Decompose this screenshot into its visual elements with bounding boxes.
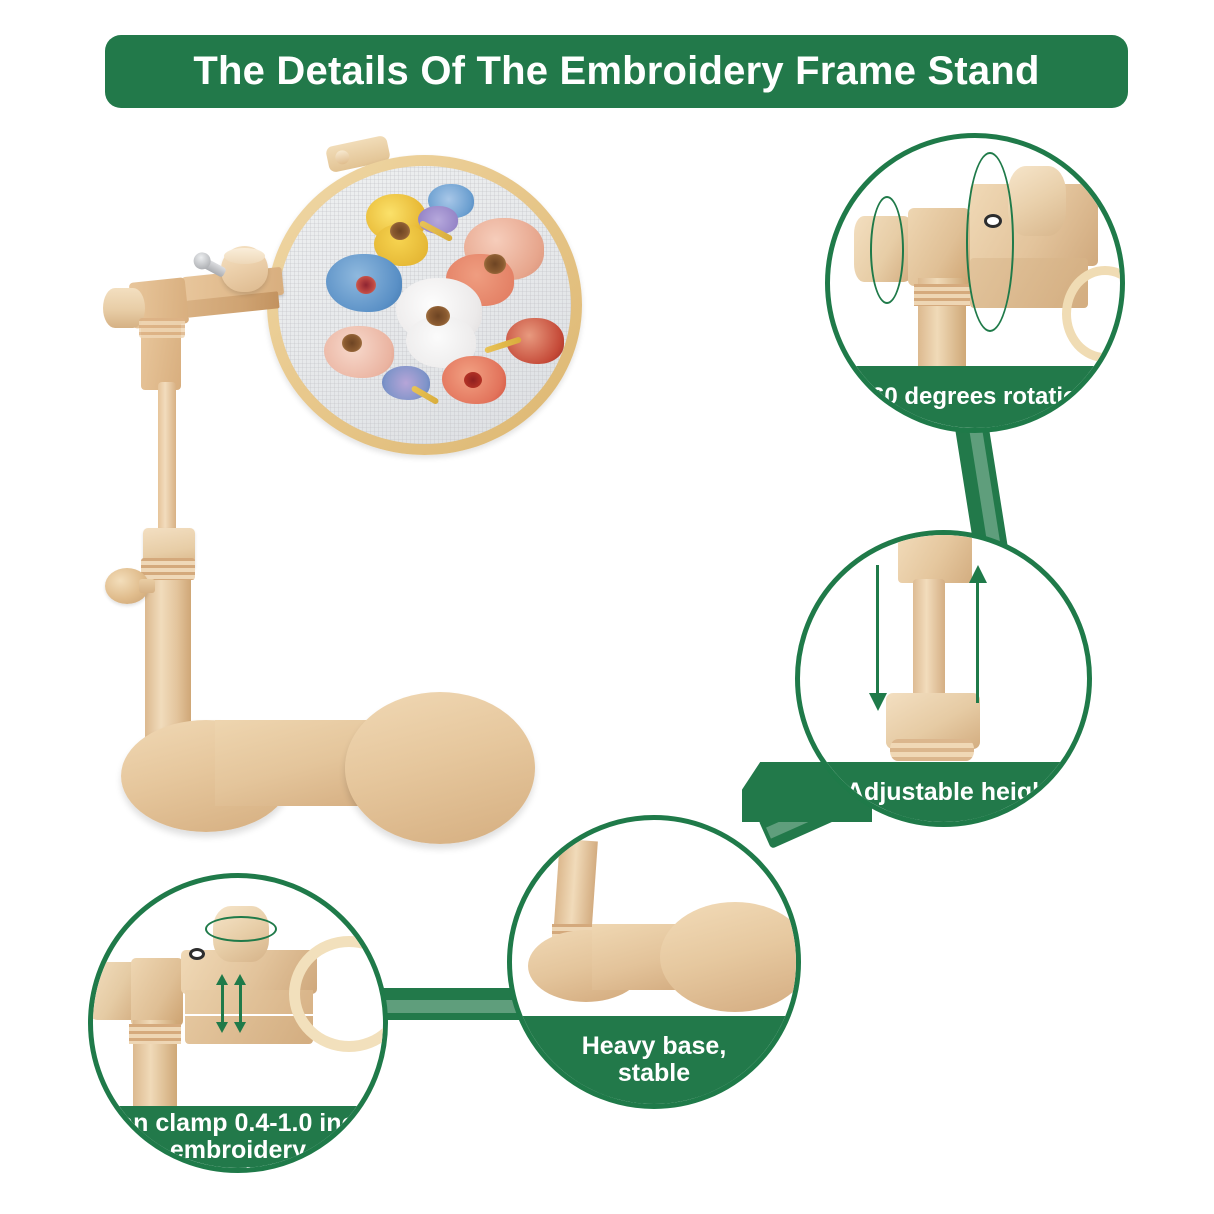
clamp-tension-knob: [1008, 166, 1066, 236]
callout-base[interactable]: Heavy base, stable: [507, 815, 801, 1109]
product-illustration: [95, 130, 625, 870]
up-arrow-head-icon: [969, 565, 987, 583]
tension-arrow-shaft-icon: [221, 982, 224, 1024]
callout-clamp[interactable]: can clamp 0.4-1.0 inch embroidery tensio…: [88, 873, 388, 1173]
tension-arrow-up-icon: [234, 974, 246, 985]
down-arrow-shaft-icon: [876, 565, 879, 695]
infographic-canvas: The Details Of The Embroidery Frame Stan…: [0, 0, 1214, 1214]
embroidery-hoop: [267, 155, 582, 455]
hoop-fabric: [278, 166, 571, 444]
post-rings: [129, 1024, 181, 1044]
callout-label-rotation: 360 degrees rotation: [830, 366, 1120, 428]
rotation-arm-block: [908, 208, 970, 286]
tension-arrow-shaft-icon: [239, 982, 242, 1024]
rotation-arrows-icon: [870, 196, 904, 304]
callout-circle: can clamp 0.4-1.0 inch embroidery tensio…: [88, 873, 388, 1173]
height-lock-knob: [105, 568, 149, 604]
page-title: The Details Of The Embroidery Frame Stan…: [193, 49, 1039, 94]
post-neck-rings: [139, 318, 185, 338]
callout-rotation[interactable]: 360 degrees rotation: [825, 133, 1125, 433]
rotation-arrows-icon: [966, 152, 1014, 332]
rotation-arm-block: [131, 958, 183, 1026]
callout-circle: 360 degrees rotation: [825, 133, 1125, 433]
flower-center: [464, 372, 482, 388]
tension-arrow-up-icon: [216, 974, 228, 985]
tension-arrow-down-icon: [216, 1022, 228, 1033]
up-arrow-shaft-icon: [976, 583, 979, 703]
flower-petal: [324, 326, 394, 378]
flower-center: [426, 306, 450, 326]
post-rings-top: [141, 558, 195, 580]
flower-center: [484, 254, 506, 274]
rotation-arrows-icon: [205, 916, 277, 942]
title-banner: The Details Of The Embroidery Frame Stan…: [105, 35, 1128, 108]
clamp-screw-hole: [189, 948, 205, 960]
callout-label-clamp: can clamp 0.4-1.0 inch embroidery tensio…: [93, 1106, 383, 1168]
collar-rings: [890, 739, 974, 761]
callout-label-base: Heavy base, stable: [512, 1016, 796, 1104]
down-arrow-head-icon: [869, 693, 887, 711]
flower-center: [390, 222, 410, 240]
clamp-jaw-lower: [185, 1016, 313, 1044]
callout-circle: Adjustable height: [795, 530, 1092, 827]
height-adjust-rod: [913, 579, 945, 699]
tension-arrow-down-icon: [234, 1022, 246, 1033]
flower-center: [342, 334, 362, 352]
upper-block: [898, 530, 972, 583]
clamp-tension-knob: [221, 246, 268, 292]
callout-circle: Heavy base, stable: [507, 815, 801, 1109]
base-large-lobe: [660, 902, 801, 1012]
flower-center: [356, 276, 376, 294]
post-rings: [914, 284, 970, 306]
callout-label-height: Adjustable height: [800, 762, 1087, 822]
callout-height[interactable]: Adjustable height: [795, 530, 1092, 827]
